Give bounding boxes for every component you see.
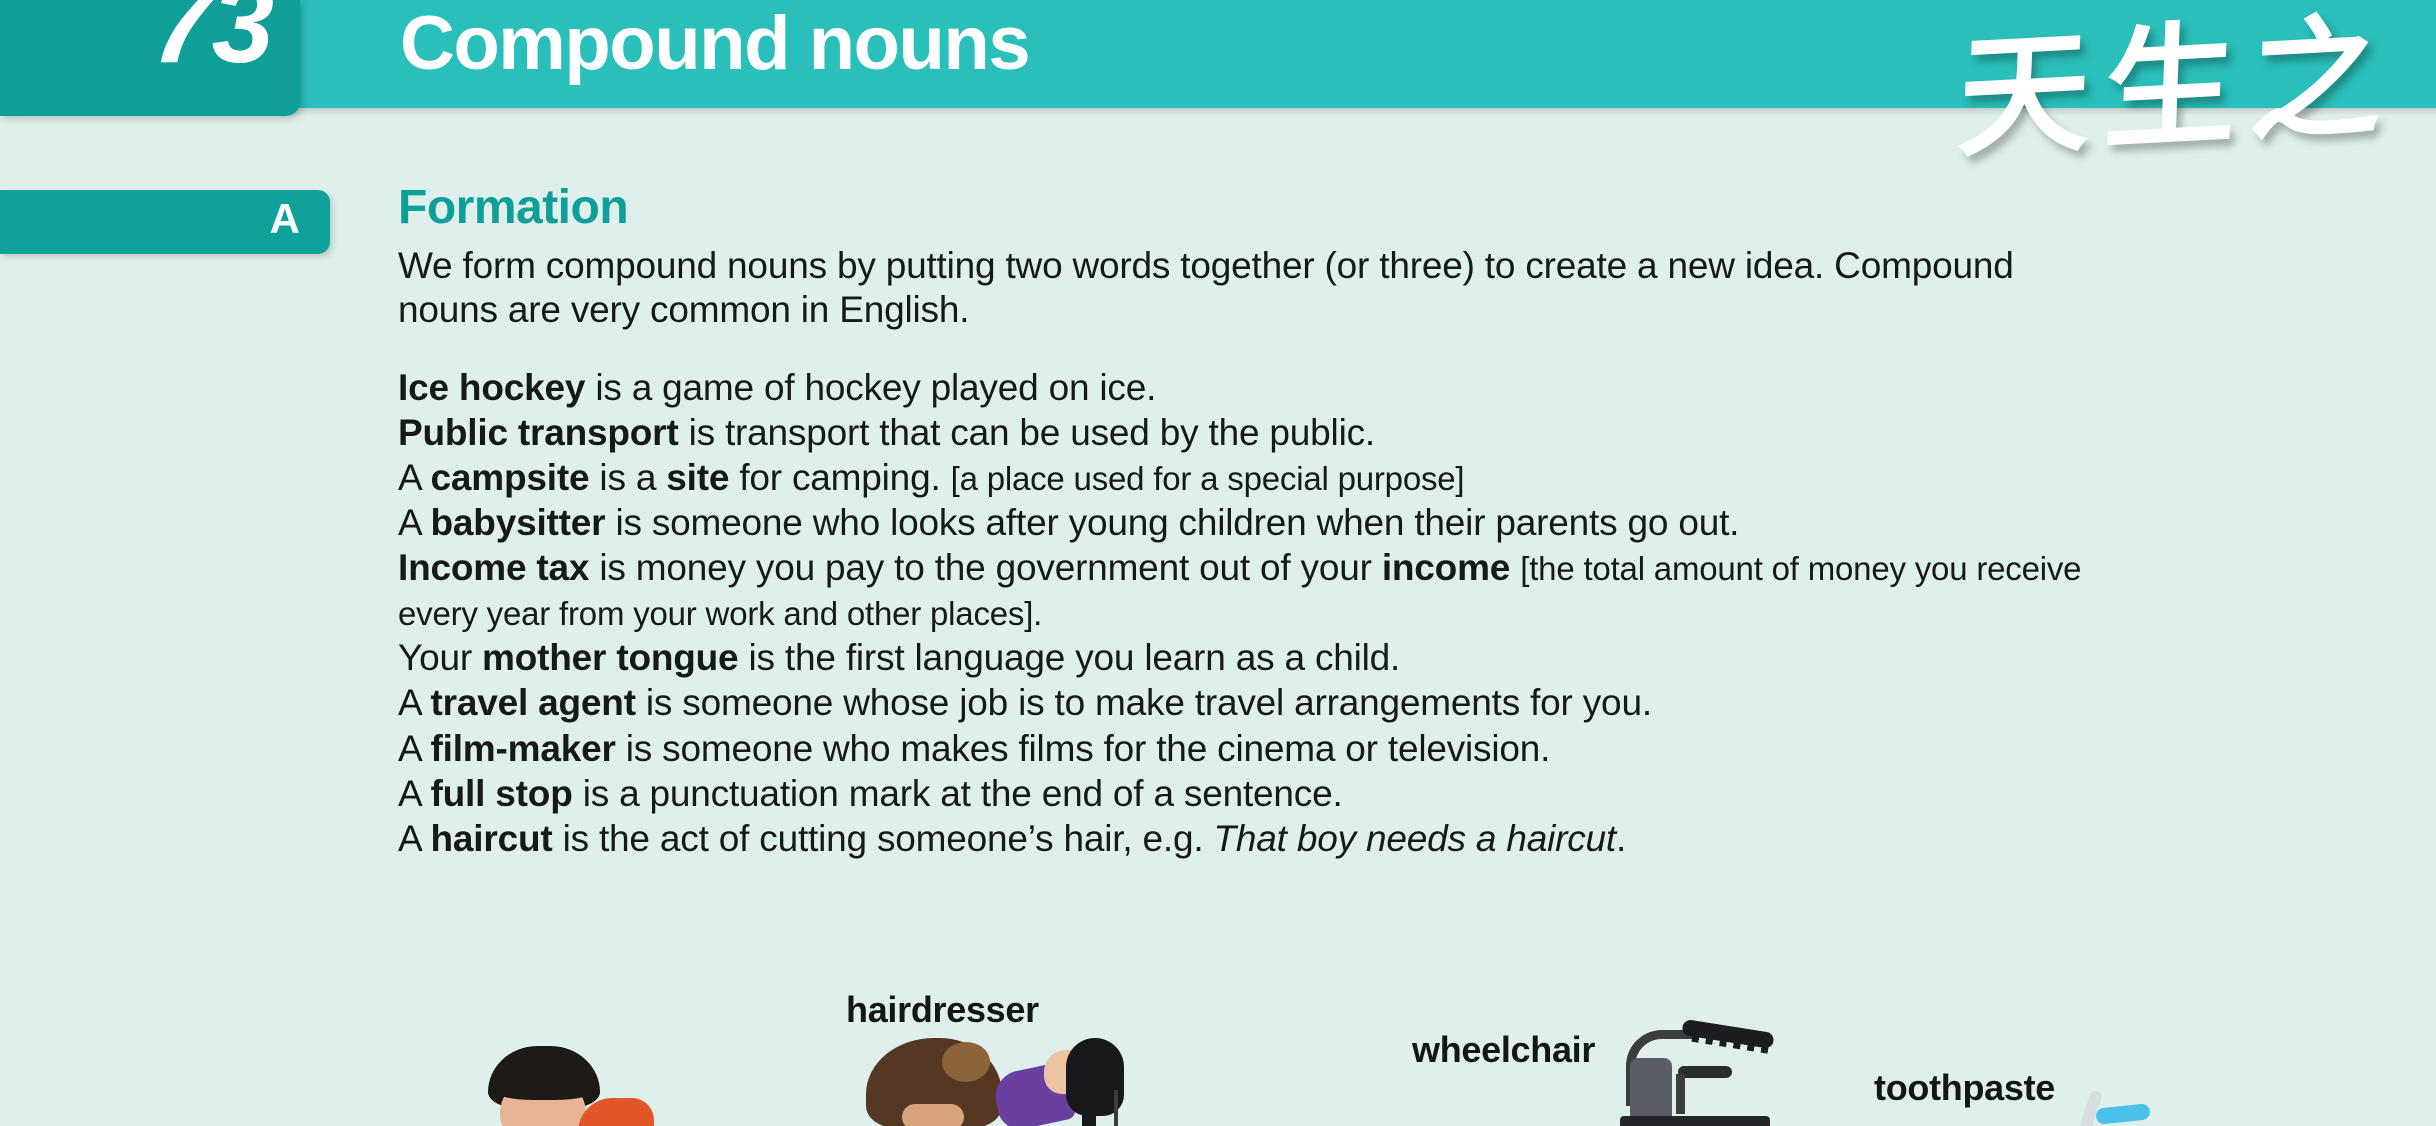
example-income-tax: Income tax is money you pay to the gover…: [398, 545, 2158, 635]
prefix-full-stop: A: [398, 773, 431, 814]
example-full-stop: A full stop is a punctuation mark at the…: [398, 771, 2158, 816]
photo-toothpaste: [2042, 1088, 2242, 1126]
def-babysitter: is someone who looks after young childre…: [605, 502, 1739, 543]
example-list: Ice hockey is a game of hockey played on…: [398, 365, 2158, 861]
photo-boxer: [460, 1042, 660, 1126]
term-site: site: [666, 457, 729, 498]
def-film-maker: is someone who makes films for the cinem…: [616, 728, 1551, 769]
picture-label-hairdresser: hairdresser: [846, 992, 1039, 1028]
picture-label-toothpaste: toothpaste: [1874, 1070, 2055, 1106]
toothpaste-stripe-shape: [2095, 1103, 2150, 1125]
term-campsite: campsite: [431, 457, 590, 498]
wheelchair-armrest-shape: [1678, 1066, 1732, 1078]
wheelchair-armpost-shape: [1676, 1074, 1685, 1114]
note-campsite: [a place used for a special purpose]: [951, 460, 1465, 497]
section-heading: Formation: [398, 182, 2298, 234]
prefix-babysitter: A: [398, 502, 431, 543]
picture-label-wheelchair: wheelchair: [1412, 1032, 1595, 1068]
chapter-number-box: 73: [0, 0, 300, 116]
def-haircut-end: .: [1616, 818, 1626, 859]
chapter-number: 73: [151, 0, 272, 80]
def-income-tax-2: [1510, 547, 1520, 588]
section-badge-a: A: [0, 190, 330, 254]
def-full-stop: is a punctuation mark at the end of a se…: [573, 773, 1343, 814]
section-badge-letter: A: [270, 198, 300, 240]
term-babysitter: babysitter: [431, 502, 606, 543]
photo-wheelchair: [1606, 1004, 1826, 1126]
client-neck-shape: [902, 1104, 964, 1126]
intro-paragraph: We form compound nouns by putting two wo…: [398, 244, 2118, 333]
def-ice-hockey: is a game of hockey played on ice.: [585, 367, 1156, 408]
def-campsite-2: for camping.: [729, 457, 950, 498]
client-hair-highlight-shape: [942, 1042, 990, 1082]
def-public-transport: is transport that can be used by the pub…: [679, 412, 1375, 453]
wheelchair-seat-shape: [1620, 1116, 1770, 1126]
hairdryer-cord-shape: [1114, 1090, 1118, 1126]
prefix-campsite: A: [398, 457, 431, 498]
example-public-transport: Public transport is transport that can b…: [398, 410, 2158, 455]
boxer-fringe-shape: [490, 1070, 598, 1100]
example-travel-agent: A travel agent is someone whose job is t…: [398, 680, 2158, 725]
example-babysitter: A babysitter is someone who looks after …: [398, 500, 2158, 545]
example-film-maker: A film-maker is someone who makes films …: [398, 726, 2158, 771]
hairdryer-nozzle-shape: [1082, 1102, 1096, 1126]
def-income-tax: is money you pay to the government out o…: [589, 547, 1382, 588]
term-full-stop: full stop: [431, 773, 573, 814]
prefix-travel-agent: A: [398, 682, 431, 723]
prefix-haircut: A: [398, 818, 431, 859]
def-travel-agent: is someone whose job is to make travel a…: [636, 682, 1652, 723]
def-mother-tongue: is the first language you learn as a chi…: [738, 637, 1400, 678]
picture-strip: hairdresser wheelchair toothpaste: [0, 980, 2436, 1126]
term-ice-hockey: Ice hockey: [398, 367, 585, 408]
def-campsite: is a: [589, 457, 666, 498]
header-shadow: [0, 108, 2436, 116]
page-title: Compound nouns: [400, 6, 1029, 82]
term-public-transport: Public transport: [398, 412, 679, 453]
prefix-film-maker: A: [398, 728, 431, 769]
example-campsite: A campsite is a site for camping. [a pla…: [398, 455, 2158, 500]
section-content: Formation We form compound nouns by putt…: [398, 182, 2298, 861]
term-haircut: haircut: [431, 818, 553, 859]
term-income-tax: Income tax: [398, 547, 589, 588]
example-mother-tongue: Your mother tongue is the first language…: [398, 635, 2158, 680]
term-income: income: [1382, 547, 1510, 588]
example-haircut: A haircut is the act of cutting someone’…: [398, 816, 2158, 861]
example-ice-hockey: Ice hockey is a game of hockey played on…: [398, 365, 2158, 410]
photo-hairdresser: [856, 1032, 1156, 1126]
term-travel-agent: travel agent: [431, 682, 636, 723]
term-mother-tongue: mother tongue: [482, 637, 738, 678]
term-film-maker: film-maker: [431, 728, 616, 769]
header-band: [0, 0, 2436, 108]
example-sentence-haircut: That boy needs a haircut: [1214, 818, 1616, 859]
def-haircut: is the act of cutting someone’s hair, e.…: [553, 818, 1214, 859]
prefix-mother-tongue: Your: [398, 637, 482, 678]
